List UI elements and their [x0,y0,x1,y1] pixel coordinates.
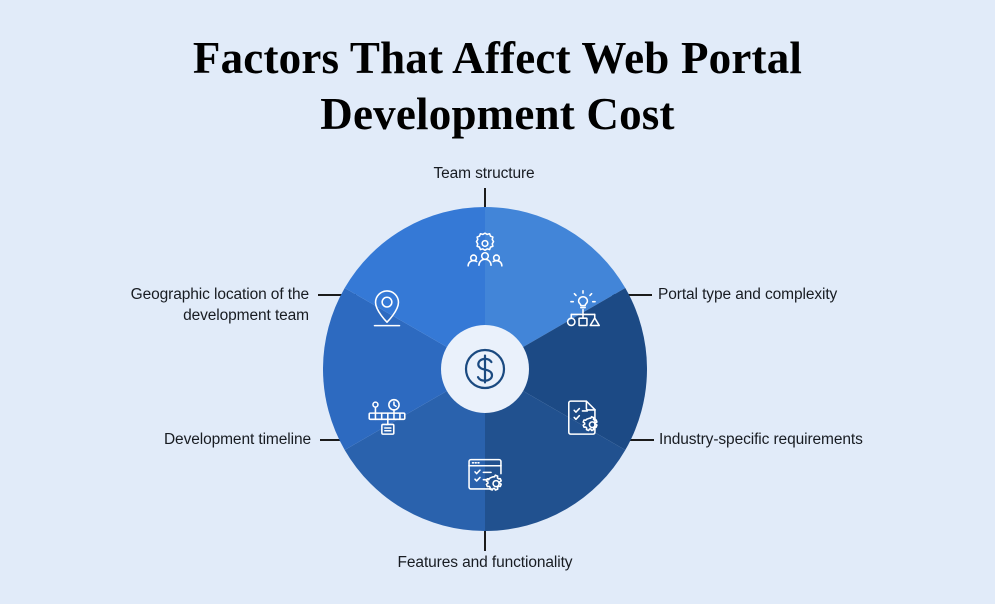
page-title: Factors That Affect Web Portal Developme… [0,30,995,142]
label-geographic-location: Geographic location of the development t… [25,284,309,326]
label-portal-type: Portal type and complexity [658,284,958,305]
hub-circle [441,325,529,413]
label-industry-requirements: Industry-specific requirements [659,429,969,450]
dollar-coin-icon [457,341,513,397]
label-features: Features and functionality [375,552,595,573]
factors-wheel [323,207,647,531]
label-team-structure: Team structure [384,163,584,184]
label-development-timeline: Development timeline [30,429,311,450]
infographic-canvas: Factors That Affect Web Portal Developme… [0,0,995,604]
